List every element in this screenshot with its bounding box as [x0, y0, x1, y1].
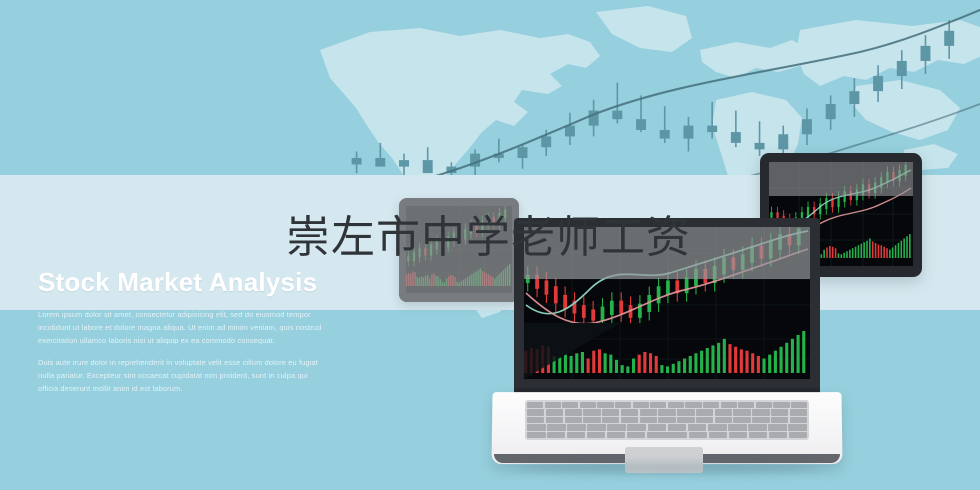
- text-block: Stock Market Analysis Lorem ipsum dolor …: [38, 268, 328, 406]
- keyboard-key[interactable]: [565, 409, 582, 415]
- keyboard-key[interactable]: [567, 424, 586, 430]
- keyboard-key[interactable]: [527, 424, 546, 430]
- keyboard-key[interactable]: [788, 424, 807, 430]
- keyboard-key[interactable]: [721, 402, 737, 408]
- keyboard-key[interactable]: [546, 409, 563, 415]
- keyboard-key[interactable]: [658, 417, 675, 423]
- keyboard-key[interactable]: [587, 432, 606, 438]
- keyboard-key[interactable]: [621, 409, 638, 415]
- keyboard-key[interactable]: [728, 424, 747, 430]
- keyboard-key[interactable]: [602, 417, 619, 423]
- keyboard-key[interactable]: [668, 424, 687, 430]
- keyboard-key[interactable]: [696, 417, 713, 423]
- keyboard-key[interactable]: [756, 402, 772, 408]
- keyboard-key[interactable]: [752, 417, 769, 423]
- keyboard-key[interactable]: [790, 409, 807, 415]
- keyboard-key[interactable]: [708, 424, 727, 430]
- keyboard-key[interactable]: [562, 402, 578, 408]
- keyboard-key[interactable]: [748, 424, 767, 430]
- keyboard-key[interactable]: [738, 402, 754, 408]
- keyboard-key[interactable]: [771, 409, 788, 415]
- keyboard-key[interactable]: [565, 417, 582, 423]
- keyboard-key[interactable]: [791, 402, 807, 408]
- keyboard-key[interactable]: [527, 402, 543, 408]
- keyboard-key[interactable]: [789, 432, 808, 438]
- keyboard-key[interactable]: [607, 424, 626, 430]
- keyboard-key[interactable]: [597, 402, 613, 408]
- keyboard-row: [527, 409, 807, 415]
- keyboard-row: [527, 402, 807, 408]
- keyboard-key[interactable]: [648, 424, 667, 430]
- overlay-title: 崇左市中学老师工资: [286, 216, 691, 260]
- keyboard-key[interactable]: [749, 432, 768, 438]
- laptop-keyboard[interactable]: [525, 400, 809, 440]
- keyboard-key[interactable]: [602, 409, 619, 415]
- keyboard-key[interactable]: [715, 409, 732, 415]
- keyboard-key[interactable]: [527, 417, 544, 423]
- keyboard-key[interactable]: [607, 432, 626, 438]
- tablet-right-glass: [769, 162, 913, 196]
- keyboard-key[interactable]: [567, 432, 586, 438]
- keyboard-key[interactable]: [547, 424, 566, 430]
- keyboard-key[interactable]: [545, 402, 561, 408]
- keyboard-key[interactable]: [769, 432, 788, 438]
- keyboard-key[interactable]: [715, 417, 732, 423]
- keyboard-key[interactable]: [615, 402, 631, 408]
- keyboard-key[interactable]: [527, 432, 546, 438]
- keyboard-key[interactable]: [640, 409, 657, 415]
- keyboard-key[interactable]: [627, 424, 646, 430]
- keyboard-key[interactable]: [583, 409, 600, 415]
- keyboard-key[interactable]: [709, 432, 728, 438]
- keyboard-key[interactable]: [587, 424, 606, 430]
- keyboard-row: [527, 417, 807, 423]
- keyboard-key[interactable]: [621, 417, 638, 423]
- keyboard-key[interactable]: [547, 432, 566, 438]
- keyboard-key[interactable]: [527, 409, 544, 415]
- body-paragraph-1: Lorem ipsum dolor sit amet, consectetur …: [38, 309, 328, 348]
- keyboard-key[interactable]: [685, 402, 701, 408]
- keyboard-key[interactable]: [546, 417, 563, 423]
- keyboard-key[interactable]: [729, 432, 748, 438]
- keyboard-key[interactable]: [689, 432, 708, 438]
- keyboard-key[interactable]: [647, 432, 688, 438]
- keyboard-key[interactable]: [677, 409, 694, 415]
- keyboard-key[interactable]: [633, 402, 649, 408]
- keyboard-key[interactable]: [768, 424, 787, 430]
- banner-canvas: Stock Market Analysis Lorem ipsum dolor …: [0, 0, 980, 490]
- body-paragraph-2: Duis aute irure dolor in reprehenderit i…: [38, 357, 328, 396]
- keyboard-key[interactable]: [703, 402, 719, 408]
- keyboard-key[interactable]: [677, 417, 694, 423]
- keyboard-key[interactable]: [583, 417, 600, 423]
- laptop-shadow: [514, 462, 822, 474]
- keyboard-key[interactable]: [668, 402, 684, 408]
- keyboard-key[interactable]: [688, 424, 707, 430]
- keyboard-key[interactable]: [627, 432, 646, 438]
- keyboard-key[interactable]: [733, 409, 750, 415]
- keyboard-key[interactable]: [658, 409, 675, 415]
- keyboard-key[interactable]: [640, 417, 657, 423]
- keyboard-key[interactable]: [773, 402, 789, 408]
- keyboard-key[interactable]: [580, 402, 596, 408]
- keyboard-row: [527, 432, 807, 438]
- keyboard-key[interactable]: [752, 409, 769, 415]
- keyboard-row: [527, 424, 807, 430]
- keyboard-key[interactable]: [771, 417, 788, 423]
- keyboard-key[interactable]: [696, 409, 713, 415]
- keyboard-key[interactable]: [790, 417, 807, 423]
- keyboard-key[interactable]: [733, 417, 750, 423]
- keyboard-key[interactable]: [650, 402, 666, 408]
- page-title: Stock Market Analysis: [38, 268, 328, 297]
